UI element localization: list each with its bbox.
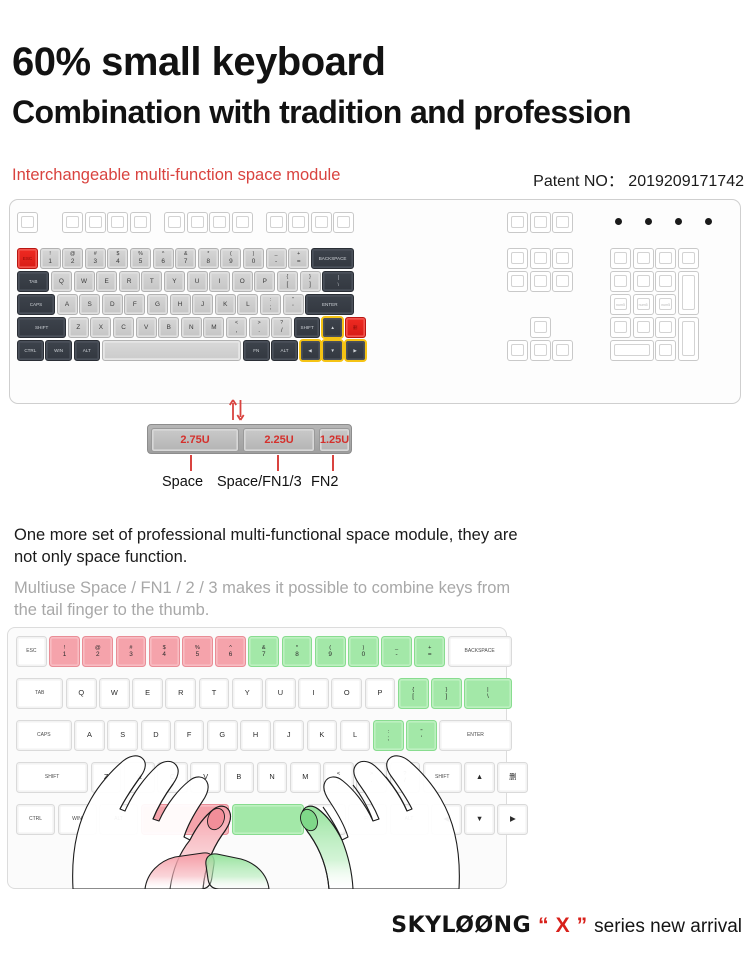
space-module-key-275u[interactable]: 2.75U: [151, 428, 239, 452]
bottom-key-lctrl-label: CTRL: [29, 817, 42, 823]
bottom-key-m-label: M: [302, 773, 308, 781]
bottom-key-y[interactable]: Y: [232, 678, 263, 709]
bottom-key-8[interactable]: *8: [282, 636, 313, 667]
bottom-keyboard-diagram: ESC!1@2#3$4%5^6&7*8(9)0_-+=BACKSPACETABQ…: [7, 627, 507, 889]
ghost-numpad-row2-1: num5: [633, 294, 654, 315]
bottom-key-down-label: ▼: [476, 815, 483, 823]
space-module-size-275u: 2.75U: [180, 434, 209, 446]
top-key-b[interactable]: B: [158, 317, 179, 338]
space-module-tray: 2.75U 2.25U 1.25U: [147, 424, 352, 454]
bottom-key-down[interactable]: ▼: [464, 804, 495, 835]
top-key-1[interactable]: !1: [40, 248, 61, 269]
ghost-navkey-top-2: [552, 212, 573, 233]
top-key-s[interactable]: S: [79, 294, 100, 315]
bottom-key-o-label: O: [344, 689, 350, 697]
top-key-down[interactable]: ▼: [322, 340, 343, 361]
top-key-7[interactable]: &7: [175, 248, 196, 269]
bottom-key-backslash-primary: \: [487, 693, 489, 700]
bottom-key-2[interactable]: @2: [82, 636, 113, 667]
bottom-key-e-label: E: [145, 689, 150, 697]
top-key-6[interactable]: ^6: [153, 248, 174, 269]
top-key-enter-label: ENTER: [322, 302, 338, 307]
ghost-numpad-plus: [678, 271, 699, 315]
ghost-fkey-f2: [85, 212, 106, 233]
ghost-numpad-row2-2-label: num5: [656, 303, 675, 307]
top-key-k[interactable]: K: [215, 294, 236, 315]
bottom-key-delete[interactable]: 删: [497, 762, 528, 793]
bottom-key-w[interactable]: W: [99, 678, 130, 709]
bottom-key-lalt-label: ALT: [114, 817, 123, 823]
top-key-semicolon[interactable]: :;: [260, 294, 281, 315]
bottom-key-tab-label: TAB: [35, 691, 44, 697]
bottom-key-esc[interactable]: ESC: [16, 636, 47, 667]
bottom-key-0[interactable]: )0: [348, 636, 379, 667]
top-key-z-label: Z: [76, 324, 80, 331]
bottom-key-win-label: WIN: [72, 817, 82, 823]
ghost-navkey-1-1: [530, 271, 551, 292]
page-subtitle: Combination with tradition and professio…: [12, 94, 631, 131]
top-key-e[interactable]: E: [96, 271, 117, 292]
leader-line-space-fn13: [277, 455, 279, 471]
top-key-h-label: H: [178, 301, 183, 308]
top-key-lalt[interactable]: ALT: [74, 340, 101, 361]
top-key-n[interactable]: N: [181, 317, 202, 338]
top-key-n-label: N: [189, 324, 194, 331]
bottom-key-lbracket[interactable]: {[: [398, 678, 429, 709]
top-key-e-label: E: [104, 278, 108, 285]
ghost-fkey-f9: [266, 212, 287, 233]
top-key-f-label: F: [133, 301, 137, 308]
top-key-caps-label: CAPS: [30, 302, 43, 307]
top-key-delete[interactable]: 删: [345, 317, 366, 338]
bottom-key-q[interactable]: Q: [66, 678, 97, 709]
ghost-numpad-row2-0: num5: [610, 294, 631, 315]
space-module-key-225u[interactable]: 2.25U: [243, 428, 315, 452]
ghost-fkey-f12: [333, 212, 354, 233]
ghost-numpad-row2-1-label: num5: [634, 303, 653, 307]
bottom-key-minus-primary: -: [396, 651, 398, 658]
top-key-enter[interactable]: ENTER: [305, 294, 354, 315]
bottom-key-u-label: U: [278, 689, 283, 697]
bottom-key-q-label: Q: [78, 689, 84, 697]
bottom-key-rshift[interactable]: SHIFT: [423, 762, 462, 793]
top-key-w-label: W: [81, 278, 87, 285]
bottom-key-4-primary: 4: [162, 651, 166, 658]
top-key-v[interactable]: V: [136, 317, 157, 338]
bottom-key-p[interactable]: P: [365, 678, 396, 709]
bottom-key-r[interactable]: R: [165, 678, 196, 709]
bottom-key-rbracket[interactable]: }]: [431, 678, 462, 709]
bottom-key-ralt[interactable]: ALT: [390, 804, 429, 835]
brand-footer: SKYLØØNG “ X ” series new arrival: [391, 913, 742, 938]
bottom-key-backspace[interactable]: BACKSPACE: [448, 636, 512, 667]
top-key-7-primary: 7: [184, 258, 188, 265]
bottom-key-f[interactable]: F: [174, 720, 205, 751]
top-key-a-label: A: [65, 301, 69, 308]
bottom-key-v[interactable]: V: [190, 762, 221, 793]
bottom-key-t[interactable]: T: [199, 678, 230, 709]
bottom-key-1[interactable]: !1: [49, 636, 80, 667]
bottom-key-win[interactable]: WIN: [58, 804, 97, 835]
ghost-fkey-f1: [62, 212, 83, 233]
bottom-key-9[interactable]: (9: [315, 636, 346, 667]
bottom-key-tab[interactable]: TAB: [16, 678, 63, 709]
bottom-key-s[interactable]: S: [107, 720, 138, 751]
ghost-numpad-zero: [610, 340, 654, 361]
bottom-key-x-label: X: [137, 773, 142, 781]
top-key-g[interactable]: G: [147, 294, 168, 315]
top-key-p[interactable]: P: [254, 271, 275, 292]
bottom-key-fn2[interactable]: [307, 804, 346, 835]
space-module-key-125u[interactable]: 1.25U: [319, 428, 350, 452]
bottom-key-space-mid[interactable]: [232, 804, 304, 835]
top-key-g-label: G: [155, 301, 160, 308]
top-key-x[interactable]: X: [90, 317, 111, 338]
top-key-slash-primary: /: [281, 327, 283, 334]
top-key-minus-primary: -: [275, 258, 277, 265]
patent-number: Patent NO： 2019209171742: [533, 167, 744, 191]
top-key-up-label: ▲: [330, 325, 335, 330]
ghost-navkey-arrow-0: [507, 340, 528, 361]
ghost-navkey-1-0: [507, 271, 528, 292]
top-key-i-label: I: [219, 278, 221, 285]
bottom-key-7[interactable]: &7: [248, 636, 279, 667]
top-key-l[interactable]: L: [237, 294, 258, 315]
top-key-9-primary: 9: [229, 258, 233, 265]
ghost-navkey-top-1: [530, 212, 551, 233]
bottom-key-lshift[interactable]: SHIFT: [16, 762, 88, 793]
bottom-key-semicolon[interactable]: :;: [373, 720, 404, 751]
ghost-fkey-f3: [107, 212, 128, 233]
top-key-period[interactable]: >.: [249, 317, 270, 338]
top-key-a[interactable]: A: [57, 294, 78, 315]
ghost-navkey-0-1: [530, 248, 551, 269]
led-indicator-4: [705, 218, 712, 225]
bottom-key-5[interactable]: %5: [182, 636, 213, 667]
bottom-key-x[interactable]: X: [124, 762, 155, 793]
top-key-o[interactable]: O: [232, 271, 253, 292]
top-key-comma[interactable]: <,: [226, 317, 247, 338]
top-key-comma-primary: ,: [236, 327, 238, 334]
bottom-key-backslash[interactable]: |\: [464, 678, 511, 709]
top-key-q[interactable]: Q: [51, 271, 72, 292]
bottom-key-semicolon-primary: ;: [387, 735, 389, 742]
top-key-left-label: ◀: [308, 348, 312, 353]
bottom-key-lbracket-primary: [: [412, 693, 414, 700]
bottom-key-3-primary: 3: [129, 651, 133, 658]
top-key-m[interactable]: M: [203, 317, 224, 338]
top-key-9[interactable]: (9: [220, 248, 241, 269]
bottom-key-k[interactable]: K: [307, 720, 338, 751]
bottom-key-period-primary: .: [371, 777, 373, 784]
bottom-key-ralt-label: ALT: [405, 817, 414, 823]
bottom-key-period[interactable]: >.: [356, 762, 387, 793]
top-key-right-label: ▶: [353, 348, 357, 353]
led-indicator-3: [675, 218, 682, 225]
bottom-key-p-label: P: [378, 689, 383, 697]
top-key-y-label: Y: [172, 278, 176, 285]
skyloong-logo: SKYLØØNG: [391, 913, 531, 938]
bottom-key-quote-primary: ': [421, 735, 422, 742]
top-key-ralt[interactable]: ALT: [271, 340, 298, 361]
bottom-key-r-label: R: [178, 689, 183, 697]
top-key-win-label: WIN: [54, 348, 63, 353]
bottom-key-j[interactable]: J: [273, 720, 304, 751]
top-key-f[interactable]: F: [124, 294, 145, 315]
bottom-key-left[interactable]: ◀: [431, 804, 462, 835]
top-key-esc-label: ESC: [23, 256, 32, 261]
bottom-key-e[interactable]: E: [132, 678, 163, 709]
bottom-key-a[interactable]: A: [74, 720, 105, 751]
top-key-tab[interactable]: TAB: [17, 271, 49, 292]
top-key-d[interactable]: D: [102, 294, 123, 315]
bottom-key-caps[interactable]: CAPS: [16, 720, 72, 751]
bottom-key-fn[interactable]: FN: [348, 804, 387, 835]
top-key-up[interactable]: ▲: [322, 317, 343, 338]
top-keyboard-diagram: num5num5num5 ESC!1@2#3$4%5^6&7*8(9)0_-+=…: [9, 199, 741, 404]
bottom-key-equal-primary: =: [428, 651, 432, 658]
top-key-s-label: S: [88, 301, 92, 308]
top-key-rbracket[interactable]: }]: [300, 271, 321, 292]
top-key-3[interactable]: #3: [85, 248, 106, 269]
ghost-navkey-0-0: [507, 248, 528, 269]
top-key-0-primary: 0: [252, 258, 256, 265]
top-key-t-label: T: [150, 278, 154, 285]
top-key-b-label: B: [167, 324, 171, 331]
bottom-key-1-primary: 1: [63, 651, 67, 658]
top-key-h[interactable]: H: [170, 294, 191, 315]
bottom-key-2-primary: 2: [96, 651, 100, 658]
top-key-backslash-primary: \: [338, 282, 339, 287]
top-key-ralt-label: ALT: [281, 348, 289, 353]
bottom-key-3[interactable]: #3: [116, 636, 147, 667]
bottom-key-t-label: T: [212, 689, 217, 697]
ghost-numpad-enter: [678, 317, 699, 361]
bottom-key-7-primary: 7: [262, 651, 266, 658]
top-key-u-label: U: [195, 278, 200, 285]
led-indicator-2: [645, 218, 652, 225]
top-key-tab-label: TAB: [29, 279, 38, 284]
top-key-lbracket[interactable]: {[: [277, 271, 298, 292]
top-key-rbracket-primary: ]: [309, 281, 311, 288]
ghost-numpad-row1-1: [633, 271, 654, 292]
top-key-0[interactable]: )0: [243, 248, 264, 269]
bottom-key-4[interactable]: $4: [149, 636, 180, 667]
bottom-key-l[interactable]: L: [340, 720, 371, 751]
page-title: 60% small keyboard: [12, 40, 385, 85]
top-key-rshift[interactable]: SHIFT: [294, 317, 321, 338]
top-key-2[interactable]: @2: [62, 248, 83, 269]
top-key-m-label: M: [211, 324, 216, 331]
ghost-numpad-row3-2: [655, 317, 676, 338]
top-key-esc[interactable]: ESC: [17, 248, 38, 269]
top-key-p-label: P: [263, 278, 267, 285]
top-key-r[interactable]: R: [119, 271, 140, 292]
top-key-d-label: D: [110, 301, 115, 308]
bottom-key-n[interactable]: N: [257, 762, 288, 793]
bottom-key-right[interactable]: ▶: [497, 804, 528, 835]
ghost-numpad-row2-2: num5: [655, 294, 676, 315]
top-key-k-label: K: [223, 301, 227, 308]
bottom-key-rbracket-primary: ]: [446, 693, 448, 700]
bottom-key-0-primary: 0: [362, 651, 366, 658]
top-key-4[interactable]: $4: [107, 248, 128, 269]
top-key-u[interactable]: U: [187, 271, 208, 292]
top-key-lshift[interactable]: SHIFT: [17, 317, 66, 338]
bottom-key-right-label: ▶: [510, 815, 516, 823]
top-key-lctrl[interactable]: CTRL: [17, 340, 44, 361]
ghost-fkey-f7: [209, 212, 230, 233]
bottom-key-up-label: ▲: [476, 773, 483, 781]
bottom-key-i-label: I: [313, 689, 315, 697]
ghost-numpad-row3-1: [633, 317, 654, 338]
space-module-label-space-fn13: Space/FN1/3: [217, 474, 302, 490]
bottom-key-i[interactable]: I: [298, 678, 329, 709]
ghost-fkey-f6: [187, 212, 208, 233]
bottom-key-z-label: Z: [104, 773, 109, 781]
ghost-numpad-row2-0-label: num5: [611, 303, 630, 307]
top-key-t[interactable]: T: [141, 271, 162, 292]
ghost-fkey-f11: [311, 212, 332, 233]
bottom-key-h[interactable]: H: [240, 720, 271, 751]
top-key-6-primary: 6: [161, 258, 165, 265]
bottom-key-w-label: W: [111, 689, 118, 697]
bottom-key-esc-label: ESC: [26, 649, 36, 655]
bottom-key-g[interactable]: G: [207, 720, 238, 751]
x-series-quote-close: ”: [577, 914, 588, 938]
ghost-numpad-row3-0: [610, 317, 631, 338]
bottom-key-6[interactable]: ^6: [215, 636, 246, 667]
top-key-2-primary: 2: [71, 258, 75, 265]
ghost-numpad-row1-0: [610, 271, 631, 292]
bottom-key-m[interactable]: M: [290, 762, 321, 793]
bottom-key-comma[interactable]: <,: [323, 762, 354, 793]
bottom-key-h-label: H: [253, 731, 258, 739]
bottom-key-k-label: K: [319, 731, 324, 739]
bottom-key-c[interactable]: C: [157, 762, 188, 793]
top-key-left[interactable]: ◀: [300, 340, 321, 361]
space-module-size-125u: 1.25U: [320, 434, 349, 446]
product-infographic-page: 60% small keyboard Combination with trad…: [0, 0, 750, 957]
ghost-numpad-row0-1: [633, 248, 654, 269]
top-key-lalt-label: ALT: [83, 348, 91, 353]
bottom-key-d[interactable]: D: [141, 720, 172, 751]
top-key-rshift-label: SHIFT: [301, 325, 314, 330]
top-key-period-primary: .: [258, 327, 260, 334]
top-key-caps[interactable]: CAPS: [17, 294, 55, 315]
bottom-key-enter-label: ENTER: [467, 733, 484, 739]
bottom-key-slash[interactable]: ?/: [390, 762, 421, 793]
top-key-c[interactable]: C: [113, 317, 134, 338]
top-key-backspace[interactable]: BACKSPACE: [311, 248, 355, 269]
bottom-key-minus[interactable]: _-: [381, 636, 412, 667]
top-key-quote-primary: ': [292, 304, 293, 311]
bottom-key-equal[interactable]: +=: [414, 636, 445, 667]
top-key-win[interactable]: WIN: [45, 340, 72, 361]
ghost-fkey-f10: [288, 212, 309, 233]
bottom-key-u[interactable]: U: [265, 678, 296, 709]
ghost-navkey-top-0: [507, 212, 528, 233]
ghost-fkey-f5: [164, 212, 185, 233]
top-key-l-label: L: [246, 301, 250, 308]
top-key-down-label: ▼: [330, 348, 335, 353]
top-key-minus[interactable]: _-: [266, 248, 287, 269]
top-key-slash[interactable]: ?/: [271, 317, 292, 338]
ghost-numpad-row0-3: [678, 248, 699, 269]
swap-arrows-icon: [228, 399, 246, 421]
bottom-key-f-label: F: [187, 731, 192, 739]
top-key-z[interactable]: Z: [68, 317, 89, 338]
top-key-semicolon-primary: ;: [270, 304, 272, 311]
ghost-fkey-f4: [130, 212, 151, 233]
top-key-y[interactable]: Y: [164, 271, 185, 292]
bottom-key-o[interactable]: O: [331, 678, 362, 709]
bottom-key-slash-primary: /: [404, 777, 406, 784]
bottom-key-z[interactable]: Z: [91, 762, 122, 793]
top-key-lbracket-primary: [: [287, 281, 289, 288]
top-key-equal[interactable]: +=: [288, 248, 309, 269]
bottom-key-d-label: D: [153, 731, 158, 739]
bottom-key-backspace-label: BACKSPACE: [464, 649, 494, 655]
top-key-4-primary: 4: [116, 258, 120, 265]
leader-line-space: [190, 455, 192, 471]
top-key-5[interactable]: %5: [130, 248, 151, 269]
top-key-fn[interactable]: FN: [243, 340, 270, 361]
top-key-delete-label: 删: [353, 325, 358, 330]
space-module-size-225u: 2.25U: [264, 434, 293, 446]
x-series-quote-open: “: [538, 914, 549, 938]
bottom-key-quote[interactable]: "': [406, 720, 437, 751]
bottom-key-g-label: G: [219, 731, 225, 739]
bottom-key-lctrl[interactable]: CTRL: [16, 804, 55, 835]
top-key-v-label: V: [144, 324, 148, 331]
top-key-i[interactable]: I: [209, 271, 230, 292]
top-key-right[interactable]: ▶: [345, 340, 366, 361]
top-key-space[interactable]: [102, 340, 242, 361]
top-key-w[interactable]: W: [74, 271, 95, 292]
bottom-key-lshift-label: SHIFT: [45, 775, 59, 781]
led-indicator-1: [615, 218, 622, 225]
bottom-key-b[interactable]: B: [224, 762, 255, 793]
space-module-label-space: Space: [162, 474, 203, 490]
ghost-navkey-1-2: [552, 271, 573, 292]
top-key-equal-primary: =: [297, 258, 301, 265]
ghost-navkey-arrow-2: [552, 340, 573, 361]
top-key-x-label: X: [99, 324, 103, 331]
bottom-key-lalt[interactable]: ALT: [99, 804, 138, 835]
leader-line-fn2: [332, 455, 334, 471]
bottom-key-space-left[interactable]: [141, 804, 230, 835]
top-key-c-label: C: [121, 324, 126, 331]
description-secondary: Multiuse Space / FN1 / 2 / 3 makes it po…: [14, 578, 534, 622]
top-key-backspace-label: BACKSPACE: [319, 256, 347, 261]
bottom-key-s-label: S: [120, 731, 125, 739]
bottom-key-comma-primary: ,: [338, 777, 340, 784]
x-series-mark: X: [556, 914, 570, 938]
top-key-r-label: R: [127, 278, 132, 285]
top-key-8[interactable]: *8: [198, 248, 219, 269]
bottom-key-enter[interactable]: ENTER: [439, 720, 511, 751]
bottom-key-y-label: Y: [245, 689, 250, 697]
bottom-key-left-label: ◀: [444, 815, 450, 823]
top-key-backslash[interactable]: |\: [322, 271, 354, 292]
top-key-j-label: J: [201, 301, 204, 308]
bottom-key-delete-label: 删: [509, 773, 516, 781]
ghost-fkey-esc: [17, 212, 38, 233]
bottom-key-up[interactable]: ▲: [464, 762, 495, 793]
top-key-j[interactable]: J: [192, 294, 213, 315]
top-key-quote[interactable]: "': [283, 294, 304, 315]
